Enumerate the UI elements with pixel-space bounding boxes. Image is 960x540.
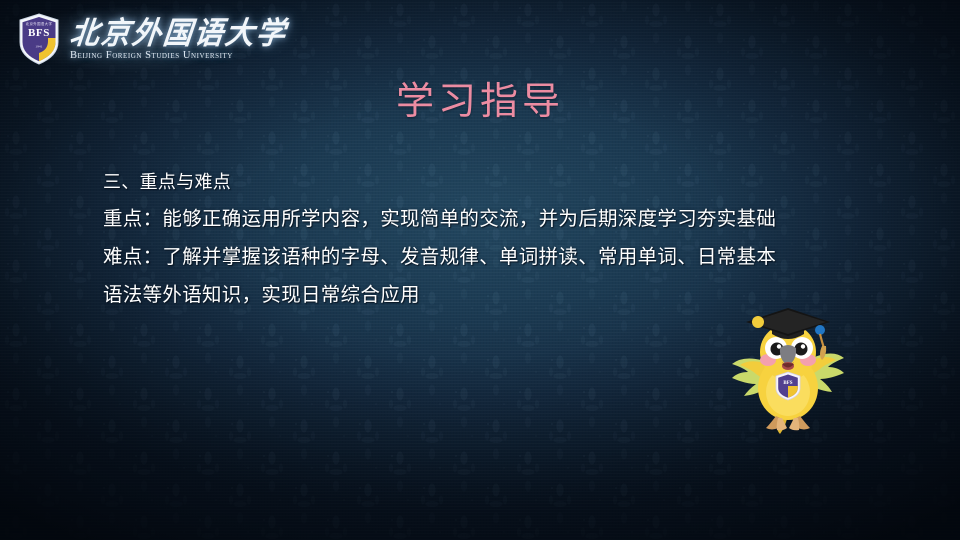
presentation-slide: BFS 北京外国语大学 1941 北京外国语大学 Beijing Foreign… — [0, 0, 960, 540]
university-logo: BFS 北京外国语大学 1941 北京外国语大学 Beijing Foreign… — [16, 8, 266, 70]
slide-title: 学习指导 — [0, 78, 960, 124]
body-line-heading: 三、重点与难点 — [103, 166, 893, 200]
slide-body: 三、重点与难点 重点：能够正确运用所学内容，实现简单的交流，并为后期深度学习夯实… — [103, 166, 893, 314]
logo-english-name: Beijing Foreign Studies University — [70, 51, 287, 62]
logo-chinese-name: 北京外国语大学 — [68, 18, 288, 49]
svg-text:1941: 1941 — [35, 45, 42, 49]
svg-text:BFS: BFS — [783, 381, 792, 386]
bfsu-shield-badge-icon: BFS — [776, 372, 800, 400]
body-line-key-points: 重点：能够正确运用所学内容，实现简单的交流，并为后期深度学习夯实基础 — [103, 200, 893, 238]
svg-text:BFS: BFS — [28, 27, 50, 39]
bfsu-shield-crest-icon: BFS 北京外国语大学 1941 — [16, 12, 62, 66]
body-line-difficulties-1: 难点：了解并掌握该语种的字母、发音规律、单词拼读、常用单词、日常基本 — [103, 238, 893, 276]
logo-wordmark: 北京外国语大学 Beijing Foreign Studies Universi… — [70, 17, 287, 62]
svg-text:北京外国语大学: 北京外国语大学 — [26, 21, 53, 26]
parrot-mascot-with-graduation-cap: BFS — [722, 300, 854, 448]
